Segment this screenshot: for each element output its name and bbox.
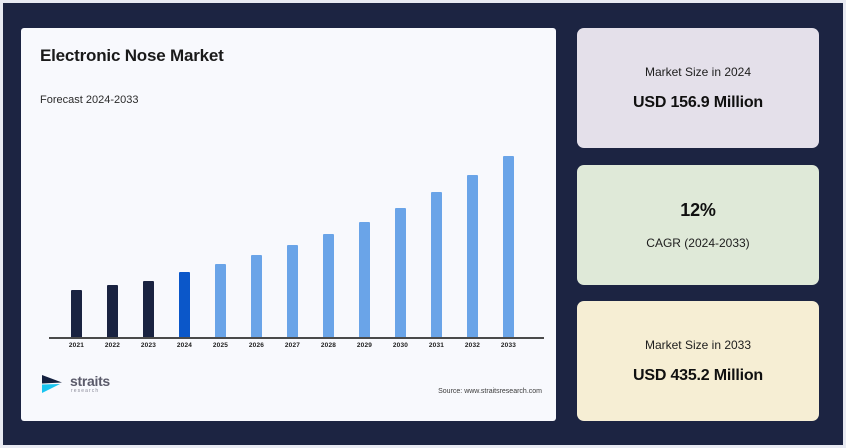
- bar-2028: [323, 234, 334, 337]
- kpi-card-value: USD 435.2 Million: [633, 367, 763, 385]
- x-tick-2028: 2028: [312, 342, 346, 349]
- x-tick-2024: 2024: [168, 342, 202, 349]
- x-tick-2025: 2025: [204, 342, 238, 349]
- bar-2024: [179, 272, 190, 337]
- bar-2025: [215, 264, 226, 337]
- x-tick-2032: 2032: [456, 342, 490, 349]
- bar-2032: [467, 175, 478, 337]
- x-tick-2033: 2033: [492, 342, 526, 349]
- x-tick-2023: 2023: [132, 342, 166, 349]
- straits-research-logo: straits research: [40, 372, 110, 396]
- chart-panel: Electronic Nose Market Forecast 2024-203…: [21, 28, 556, 421]
- logo-subtitle: research: [71, 389, 110, 394]
- kpi-card-value: USD 156.9 Million: [633, 94, 763, 112]
- logo-name: straits: [70, 374, 110, 388]
- kpi-card-list: Market Size in 2024USD 156.9 Million12%C…: [577, 28, 819, 421]
- x-axis-line: [49, 337, 544, 339]
- bar-2033: [503, 156, 514, 337]
- x-tick-2031: 2031: [420, 342, 454, 349]
- x-tick-2030: 2030: [384, 342, 418, 349]
- x-tick-2026: 2026: [240, 342, 274, 349]
- logo-text-group: straits research: [70, 374, 110, 394]
- kpi-card-value: 12%: [680, 200, 715, 221]
- bar-2021: [71, 290, 82, 337]
- x-tick-2022: 2022: [96, 342, 130, 349]
- bar-2029: [359, 222, 370, 337]
- bar-2027: [287, 245, 298, 337]
- bar-2023: [143, 281, 154, 337]
- bar-2030: [395, 208, 406, 337]
- kpi-card-2: 12%CAGR (2024-2033): [577, 165, 819, 285]
- x-tick-2021: 2021: [60, 342, 94, 349]
- x-tick-2027: 2027: [276, 342, 310, 349]
- x-tick-2029: 2029: [348, 342, 382, 349]
- infographic-root: Electronic Nose Market Forecast 2024-203…: [0, 0, 846, 448]
- kpi-card-label: Market Size in 2024: [645, 65, 751, 79]
- logo-arrow-icon: [40, 372, 66, 396]
- bar-2026: [251, 255, 262, 337]
- kpi-card-3: Market Size in 2033USD 435.2 Million: [577, 301, 819, 421]
- kpi-card-1: Market Size in 2024USD 156.9 Million: [577, 28, 819, 148]
- bar-chart-plot: 2021202220232024202520262027202820292030…: [21, 28, 556, 421]
- bar-2031: [431, 192, 442, 337]
- bar-2022: [107, 285, 118, 337]
- source-attribution: Source: www.straitsresearch.com: [438, 388, 542, 395]
- kpi-card-label: Market Size in 2033: [645, 338, 751, 352]
- kpi-card-label: CAGR (2024-2033): [646, 236, 749, 250]
